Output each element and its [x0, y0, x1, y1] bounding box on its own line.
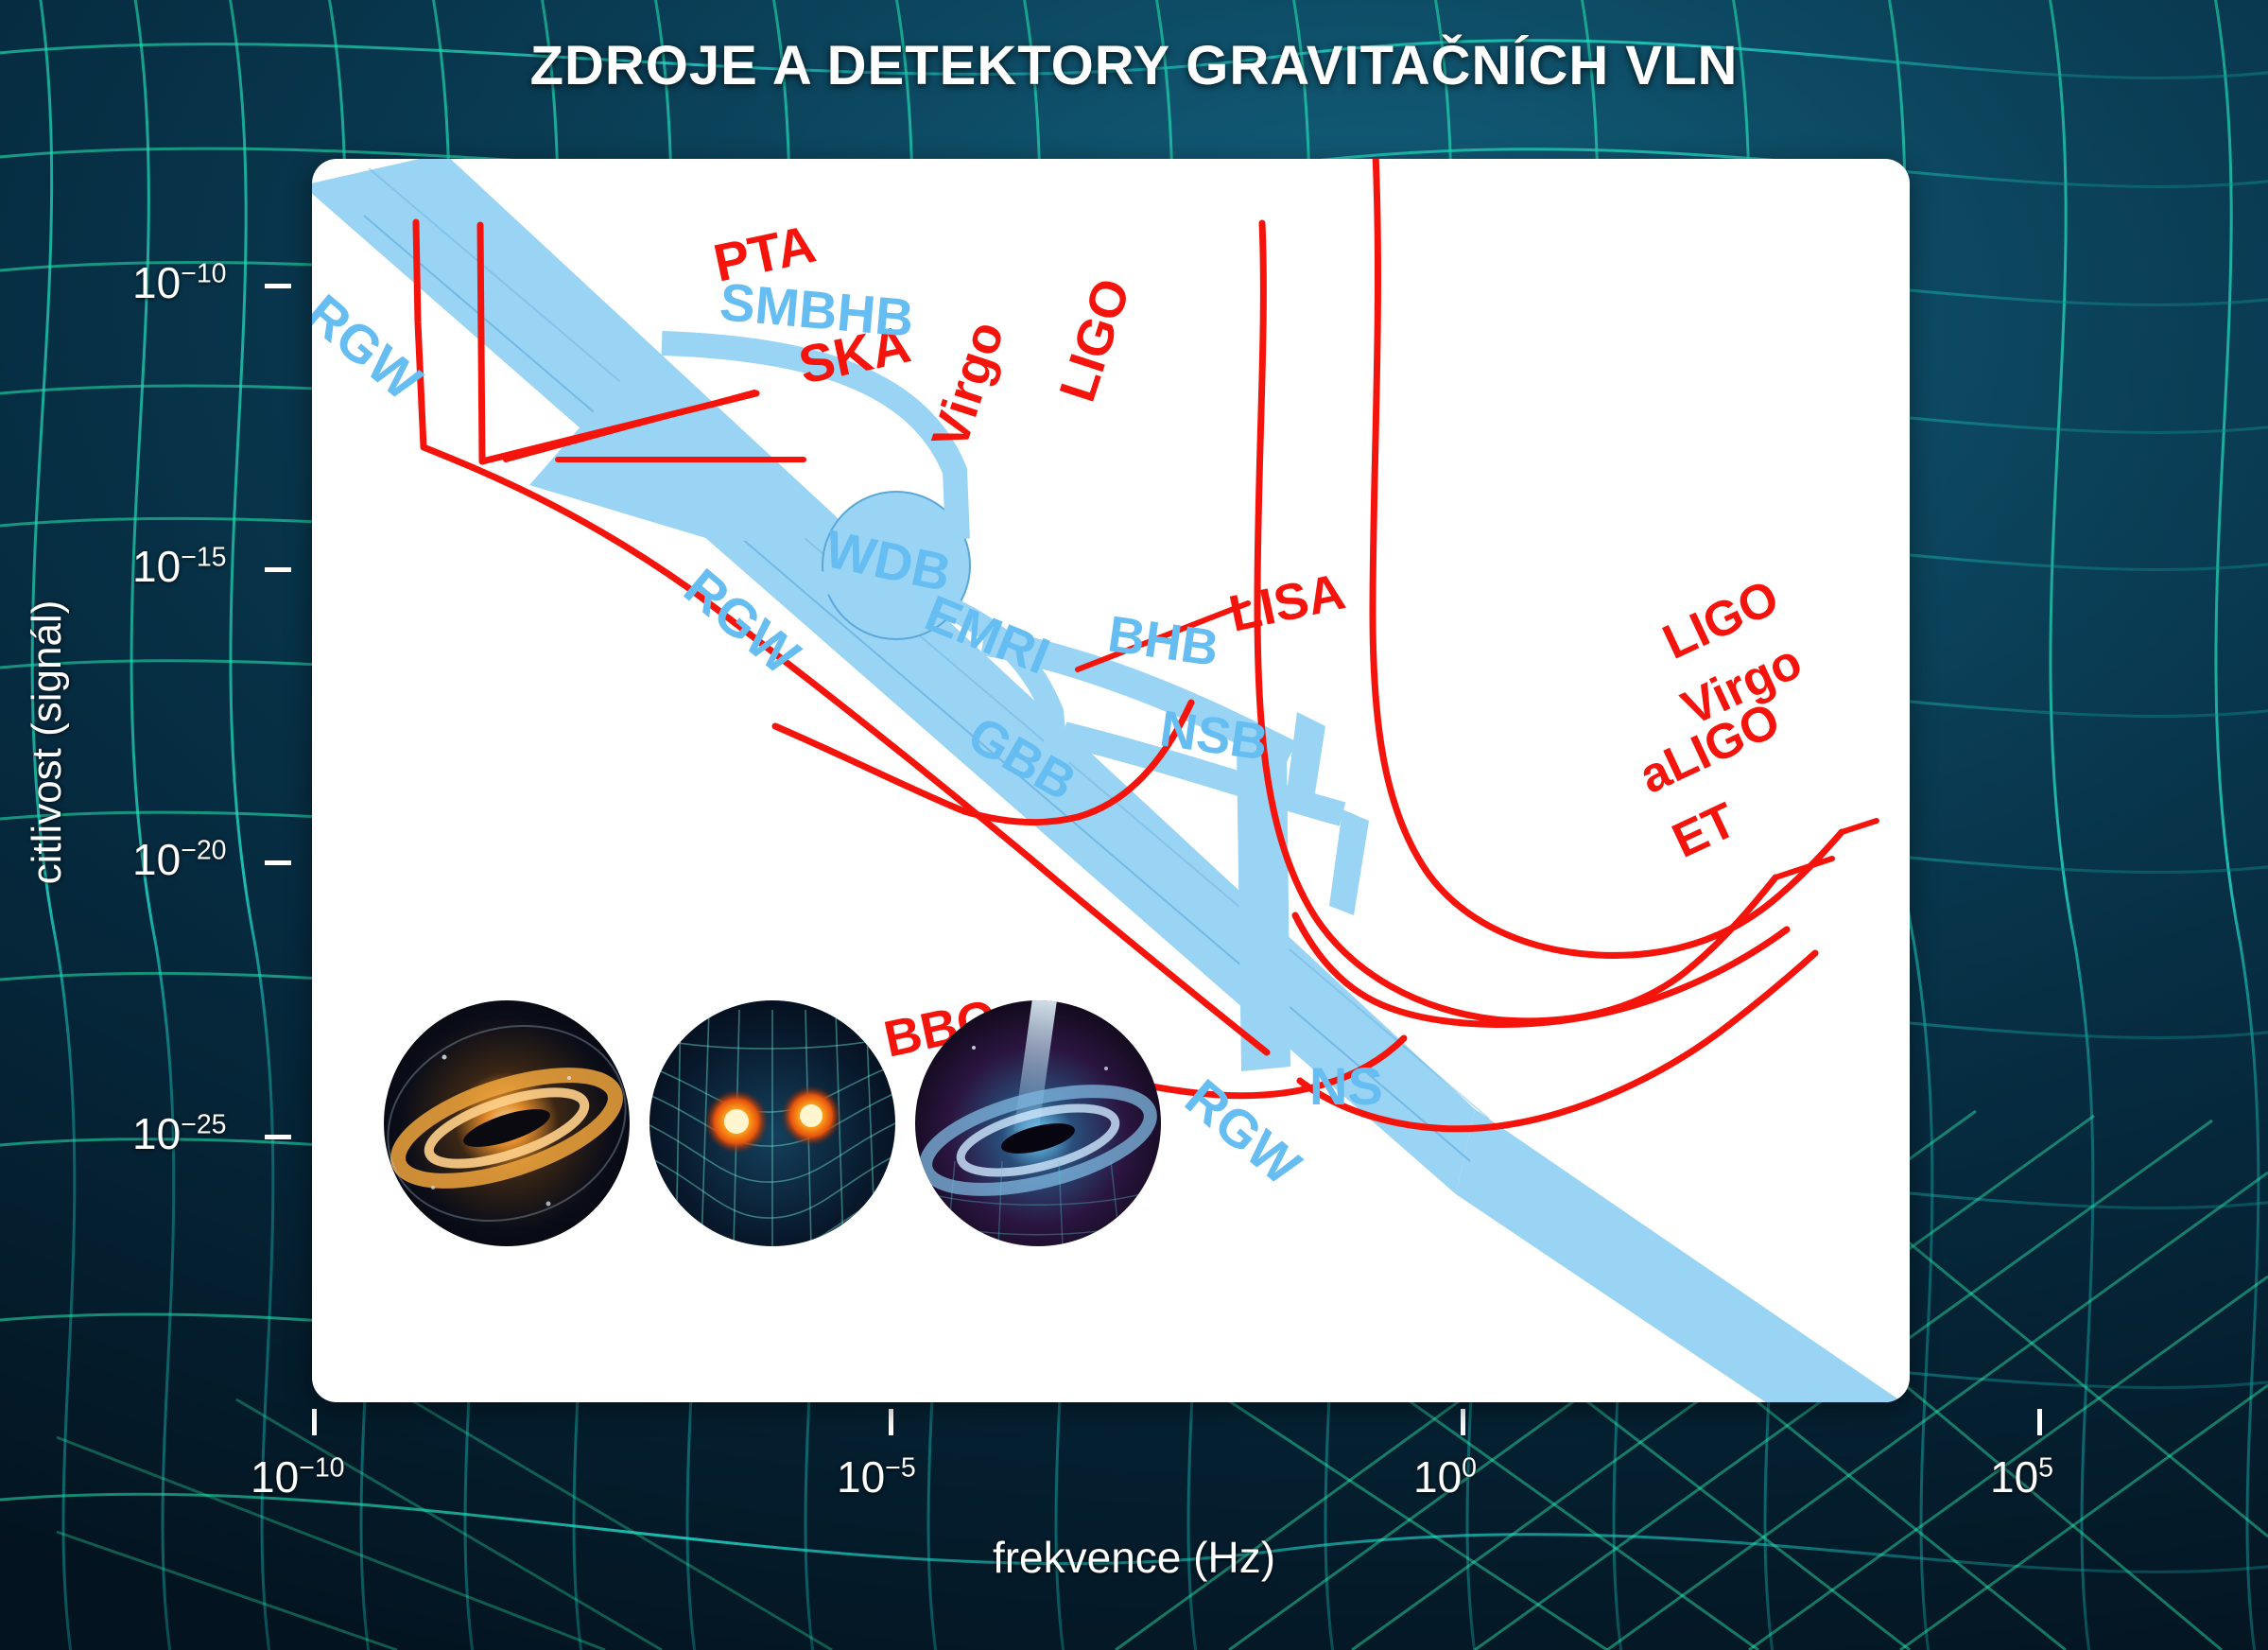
- chart-panel: PTA SKA LISA BBO Virgo LIGO LIGO Virgo a…: [312, 159, 1910, 1402]
- y-tick-label-3: 10−25: [132, 1108, 227, 1159]
- ligo-left-label: LIGO: [1048, 272, 1141, 408]
- y-tick-mark-2: [265, 860, 291, 865]
- ns-source-band: [1237, 745, 1290, 1071]
- thumbnail-accretion-disk-black-hole: [362, 996, 650, 1250]
- smbhb-label: SMBHB: [718, 271, 916, 348]
- y-tick-mark-1: [265, 567, 291, 572]
- x-tick-mark-2: [1461, 1409, 1465, 1435]
- y-tick-mark-3: [265, 1135, 291, 1139]
- chart-plot-area: PTA SKA LISA BBO Virgo LIGO LIGO Virgo a…: [312, 159, 1910, 1402]
- thumbnail-binary-merger-spacetime-grid: [649, 1000, 895, 1252]
- x-tick-mark-1: [889, 1409, 893, 1435]
- y-tick-label-2: 10−20: [132, 834, 227, 885]
- x-axis-title: frekvence (Hz): [0, 1532, 2268, 1583]
- x-tick-mark-3: [2037, 1409, 2042, 1435]
- virgo-right-branch: [1494, 877, 1775, 1021]
- y-axis-title: citlivost (signál): [24, 496, 71, 988]
- rgw-bottom-label: RGW: [1174, 1068, 1311, 1196]
- y-tick-mark-0: [265, 284, 291, 288]
- x-tick-label-3: 105: [1990, 1451, 2053, 1502]
- et-label: ET: [1665, 792, 1745, 869]
- x-tick-label-2: 100: [1413, 1451, 1477, 1502]
- x-tick-label-0: 10−10: [251, 1451, 345, 1502]
- y-tick-label-1: 10−15: [132, 541, 227, 592]
- x-tick-mark-0: [312, 1409, 317, 1435]
- ligo-left-detector-curve: [1373, 159, 1598, 955]
- virgo-left-label: Virgo: [921, 315, 1014, 456]
- ns-label: NS: [1309, 1056, 1383, 1116]
- page-title: ZDROJE A DETEKTORY GRAVITAČNÍCH VLN: [0, 34, 2268, 97]
- virgo-right-leader: [1842, 821, 1877, 832]
- x-tick-label-1: 10−5: [837, 1451, 916, 1502]
- y-tick-label-0: 10−10: [132, 257, 227, 308]
- nsb-drop-band: [1329, 809, 1369, 915]
- lisa-label: LISA: [1224, 563, 1350, 642]
